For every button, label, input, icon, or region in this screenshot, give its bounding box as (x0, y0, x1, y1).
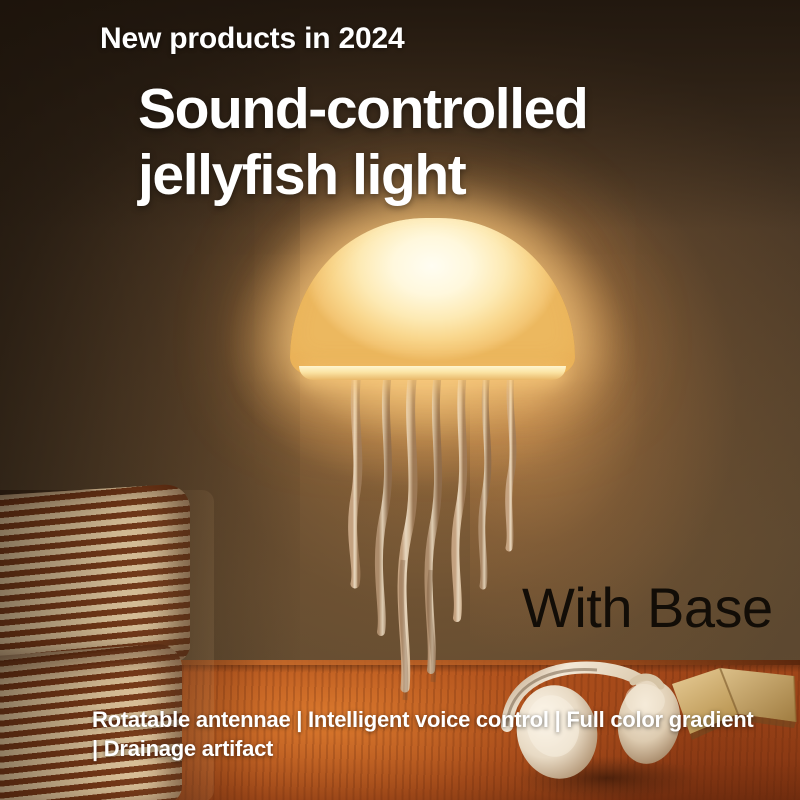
lamp-dome (290, 218, 575, 378)
page-title: Sound-controlled jellyfish light (138, 76, 738, 208)
feature-list-text: Rotatable antennae | Intelligent voice c… (92, 706, 757, 763)
with-base-badge: With Base (522, 580, 773, 636)
eyebrow-text: New products in 2024 (100, 22, 404, 55)
product-banner-image: New products in 2024 Sound-controlled je… (0, 0, 800, 800)
lamp-dome-rim (299, 366, 566, 380)
jellyfish-lamp (255, 200, 605, 720)
